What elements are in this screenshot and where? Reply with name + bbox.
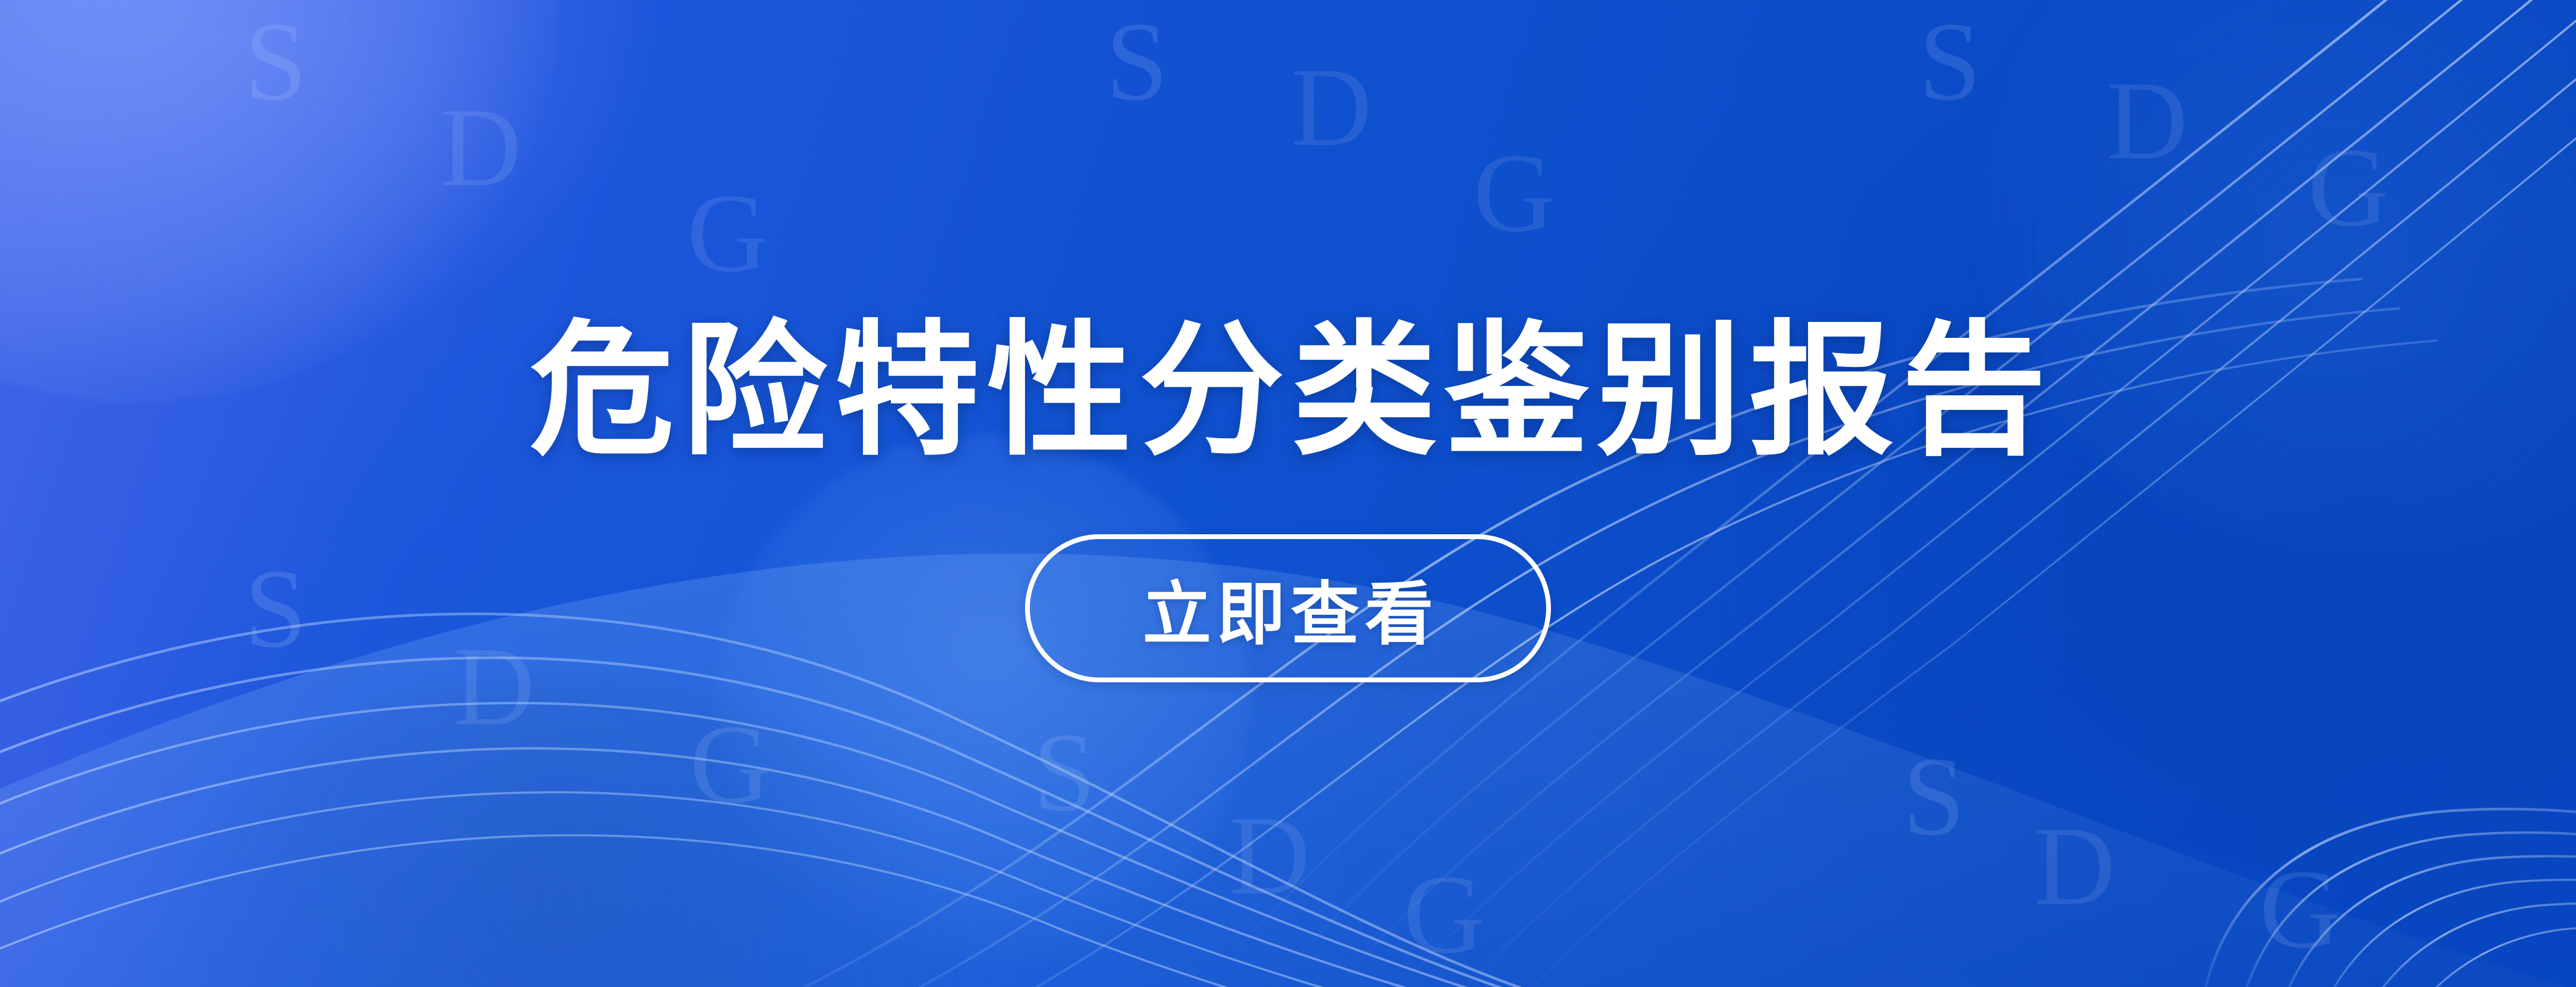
view-now-button[interactable]: 立即查看 xyxy=(1025,534,1551,682)
view-now-button-label: 立即查看 xyxy=(1137,558,1439,658)
banner-content: 危险特性分类鉴别报告 立即查看 xyxy=(0,0,2576,987)
page-title: 危险特性分类鉴别报告 xyxy=(522,273,2054,483)
promo-banner: SDGSDGSDGSDGSDGSDG 危险特性分类鉴别报告 立即查看 xyxy=(0,0,2576,987)
